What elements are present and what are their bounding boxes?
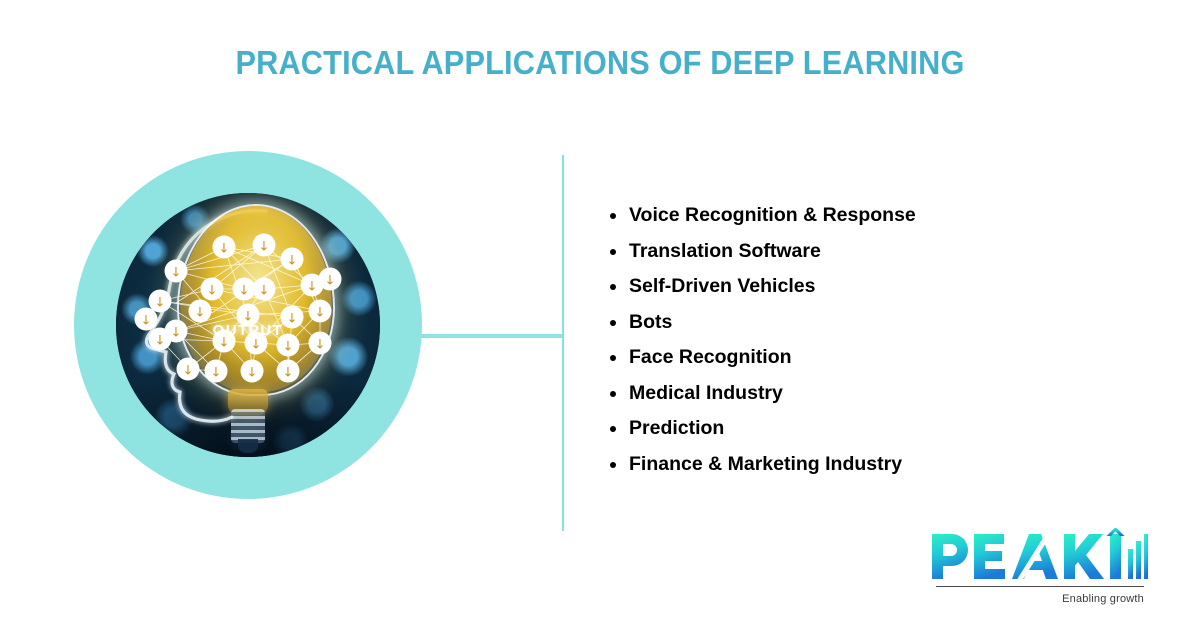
svg-text:↓: ↓ (315, 306, 326, 321)
logo-tagline: Enabling growth (1062, 593, 1144, 605)
list-item-label: Translation Software (629, 240, 821, 262)
list-item: Face Recognition (610, 340, 916, 376)
list-item: Voice Recognition & Response (610, 198, 916, 234)
svg-text:↓: ↓ (283, 340, 294, 355)
page-title: PRACTICAL APPLICATIONS OF DEEP LEARNING (42, 44, 1158, 82)
peakin-logo: Enabling growth (930, 528, 1148, 604)
svg-text:↓: ↓ (219, 242, 230, 257)
brain-lightbulb-image: ↓ ↓ ↓ ↓ ↓ ↓ ↓ ↓ ↓ ↓ ↓ ↓ ↓ ↓ ↓ ↓ ↓ (116, 193, 380, 457)
list-item-label: Self-Driven Vehicles (629, 275, 815, 297)
list-item-label: Voice Recognition & Response (629, 204, 916, 226)
output-label: OUTPUT (116, 322, 380, 339)
list-item: Medical Industry (610, 376, 916, 412)
svg-text:↓: ↓ (155, 296, 166, 311)
list-item-label: Prediction (629, 417, 724, 439)
list-item: Finance & Marketing Industry (610, 447, 916, 483)
logo-divider (936, 586, 1144, 587)
svg-text:↓: ↓ (283, 366, 294, 381)
list-item: Translation Software (610, 234, 916, 270)
svg-text:↓: ↓ (171, 266, 182, 281)
svg-text:↓: ↓ (307, 280, 318, 295)
svg-text:↓: ↓ (207, 284, 218, 299)
svg-text:↓: ↓ (247, 366, 258, 381)
connector-vertical-line (562, 155, 564, 531)
svg-text:↓: ↓ (259, 240, 270, 255)
list-item-label: Medical Industry (629, 382, 783, 404)
svg-text:↓: ↓ (239, 284, 250, 299)
applications-list: Voice Recognition & Response Translation… (610, 198, 916, 482)
list-item-label: Face Recognition (629, 346, 792, 368)
peakin-wordmark-icon (930, 528, 1148, 588)
svg-text:↓: ↓ (183, 364, 194, 379)
svg-text:↓: ↓ (315, 338, 326, 353)
list-item-label: Bots (629, 311, 672, 333)
svg-text:↓: ↓ (259, 284, 270, 299)
svg-text:↓: ↓ (325, 274, 336, 289)
svg-text:↓: ↓ (251, 338, 262, 353)
list-item: Self-Driven Vehicles (610, 269, 916, 305)
list-item: Bots (610, 305, 916, 341)
list-item-label: Finance & Marketing Industry (629, 453, 902, 475)
neural-nodes: ↓ ↓ ↓ ↓ ↓ ↓ ↓ ↓ ↓ ↓ ↓ ↓ ↓ ↓ ↓ ↓ ↓ (135, 234, 342, 383)
svg-text:↓: ↓ (287, 254, 298, 269)
svg-text:↓: ↓ (195, 306, 206, 321)
deep-learning-illustration: ↓ ↓ ↓ ↓ ↓ ↓ ↓ ↓ ↓ ↓ ↓ ↓ ↓ ↓ ↓ ↓ ↓ (74, 151, 422, 499)
connector-horizontal-line (398, 334, 564, 338)
svg-text:↓: ↓ (211, 366, 222, 381)
list-item: Prediction (610, 411, 916, 447)
